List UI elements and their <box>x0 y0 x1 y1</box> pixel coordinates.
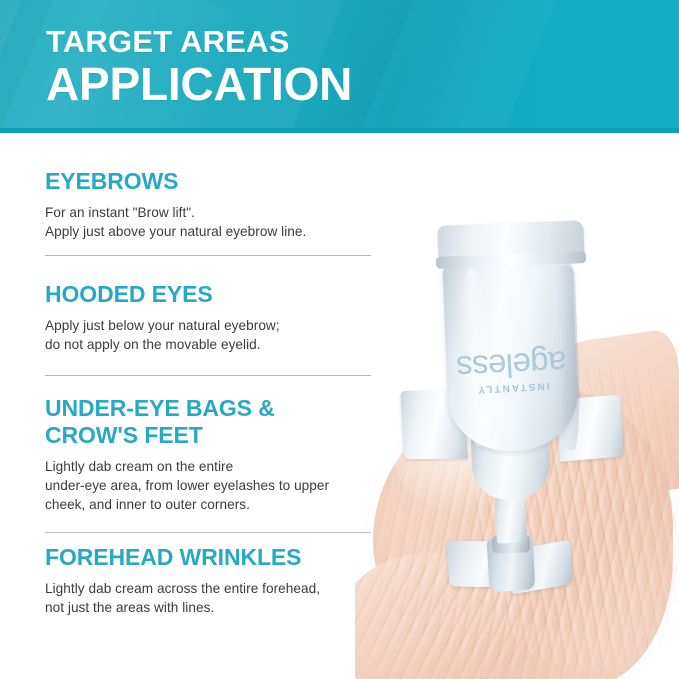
header-banner: TARGET AREAS APPLICATION <box>0 0 679 133</box>
section-body-under-eye-bags: Lightly dab cream on the entireunder-eye… <box>45 457 390 515</box>
section-body-eyebrows: For an instant "Brow lift".Apply just ab… <box>45 203 385 242</box>
section-heading-under-eye-bags: UNDER-EYE BAGS &CROW'S FEET <box>45 395 390 449</box>
section-forehead-wrinkles: FOREHEAD WRINKLES Lightly dab cream acro… <box>45 544 385 618</box>
infographic-page: TARGET AREAS APPLICATION <box>0 0 679 679</box>
section-eyebrows: EYEBROWS For an instant "Brow lift".Appl… <box>45 168 385 242</box>
page-title-primary: TARGET AREAS <box>46 26 352 57</box>
section-under-eye-bags-crows-feet: UNDER-EYE BAGS &CROW'S FEET Lightly dab … <box>45 395 390 515</box>
section-divider-1 <box>45 255 371 256</box>
section-body-forehead-wrinkles: Lightly dab cream across the entire fore… <box>45 579 385 618</box>
section-divider-2 <box>45 375 371 376</box>
section-divider-3 <box>45 532 371 533</box>
content-column: EYEBROWS For an instant "Brow lift".Appl… <box>0 133 679 679</box>
section-heading-eyebrows: EYEBROWS <box>45 168 385 195</box>
section-body-hooded-eyes: Apply just below your natural eyebrow;do… <box>45 316 385 355</box>
section-heading-forehead-wrinkles: FOREHEAD WRINKLES <box>45 544 385 571</box>
section-heading-hooded-eyes: HOODED EYES <box>45 281 385 308</box>
header-title-group: TARGET AREAS APPLICATION <box>46 26 352 108</box>
page-title-secondary: APPLICATION <box>46 60 352 108</box>
section-hooded-eyes: HOODED EYES Apply just below your natura… <box>45 281 385 355</box>
